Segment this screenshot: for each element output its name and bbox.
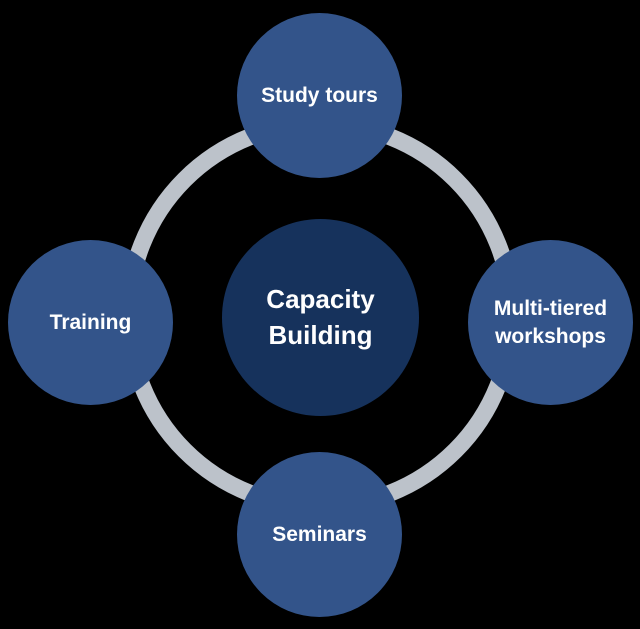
capacity-building-diagram: Study tours Multi-tiered workshops Semin… [0,0,640,629]
node-training[interactable]: Training [8,240,173,405]
node-capacity-building[interactable]: Capacity Building [222,219,419,416]
node-multi-tiered-workshops[interactable]: Multi-tiered workshops [468,240,633,405]
node-training-label: Training [42,309,140,337]
node-seminars-label: Seminars [264,521,375,549]
node-study-tours[interactable]: Study tours [237,13,402,178]
node-multi-tiered-workshops-label: Multi-tiered workshops [486,295,615,350]
node-seminars[interactable]: Seminars [237,452,402,617]
node-study-tours-label: Study tours [253,82,386,110]
node-capacity-building-label: Capacity Building [258,282,382,352]
